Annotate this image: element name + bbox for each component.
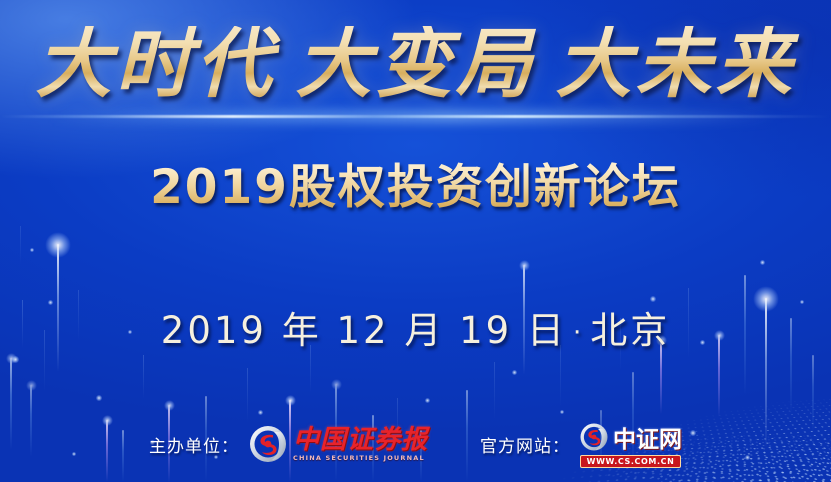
cs-name-cn: 中证网 bbox=[613, 420, 682, 454]
organizer-group: 主办单位： bbox=[149, 424, 428, 464]
main-title-segment-1: 大时代 bbox=[36, 26, 276, 102]
event-date: 2019 年 12 月 19 日 bbox=[161, 309, 567, 352]
main-title-segment-2: 大变局 bbox=[296, 26, 536, 102]
website-group: 官方网站： bbox=[480, 420, 682, 468]
cs-website-url[interactable]: WWW.CS.COM.CN bbox=[580, 455, 682, 468]
poster-content: 大时代大变局大未来 2019股权投资创新论坛 2019 年 12 月 19 日·… bbox=[0, 0, 831, 482]
csj-name-en: CHINA SECURITIES JOURNAL bbox=[293, 455, 425, 462]
csj-circle-s-icon bbox=[248, 424, 288, 464]
event-date-location: 2019 年 12 月 19 日·北京 bbox=[0, 300, 831, 354]
csj-wordmark: 中国证券报 CHINA SECURITIES JOURNAL bbox=[293, 427, 428, 462]
event-city: 北京 bbox=[590, 309, 670, 352]
event-poster: 大时代大变局大未来 2019股权投资创新论坛 2019 年 12 月 19 日·… bbox=[0, 0, 831, 482]
cs-com-cn-logo[interactable]: 中证网 WWW.CS.COM.CN bbox=[579, 420, 682, 468]
sub-title: 2019股权投资创新论坛 bbox=[0, 148, 831, 217]
cs-logo-top-row: 中证网 bbox=[579, 420, 682, 454]
website-label: 官方网站： bbox=[480, 432, 570, 457]
csj-name-cn: 中国证券报 bbox=[293, 427, 428, 453]
poster-footer: 主办单位： bbox=[0, 421, 831, 467]
cs-circle-s-icon bbox=[579, 422, 609, 452]
main-title-segment-3: 大未来 bbox=[556, 26, 796, 102]
date-location-separator: · bbox=[567, 318, 590, 348]
china-securities-journal-logo: 中国证券报 CHINA SECURITIES JOURNAL bbox=[248, 424, 428, 464]
main-title: 大时代大变局大未来 bbox=[0, 26, 831, 102]
organizer-label: 主办单位： bbox=[149, 432, 239, 457]
